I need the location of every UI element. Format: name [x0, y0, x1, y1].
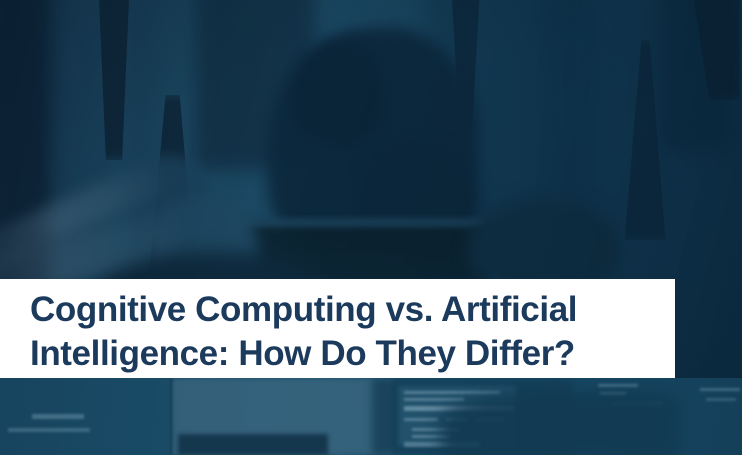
article-hero-banner: Cognitive Computing vs. Artificial Intel… [0, 0, 742, 455]
blurred-ui-line [700, 388, 740, 391]
blurred-ui-line [706, 398, 736, 401]
foreground-desk-strip [0, 378, 742, 455]
foreground-monitor-divider [170, 378, 172, 455]
blurred-ui-line [404, 418, 438, 421]
foreground-keyboard [178, 434, 328, 455]
headline-line-2: Intelligence: How Do They Differ? [30, 332, 675, 376]
blurred-ui-line [404, 391, 500, 394]
blurred-ui-line [32, 414, 84, 419]
blurred-ui-line [8, 428, 90, 432]
blurred-ui-line [404, 398, 464, 401]
headline-banner: Cognitive Computing vs. Artificial Intel… [0, 279, 675, 378]
headline-line-1: Cognitive Computing vs. Artificial [30, 288, 675, 332]
foreground-person-silhouette [440, 390, 680, 455]
blurred-ui-line [598, 384, 638, 387]
